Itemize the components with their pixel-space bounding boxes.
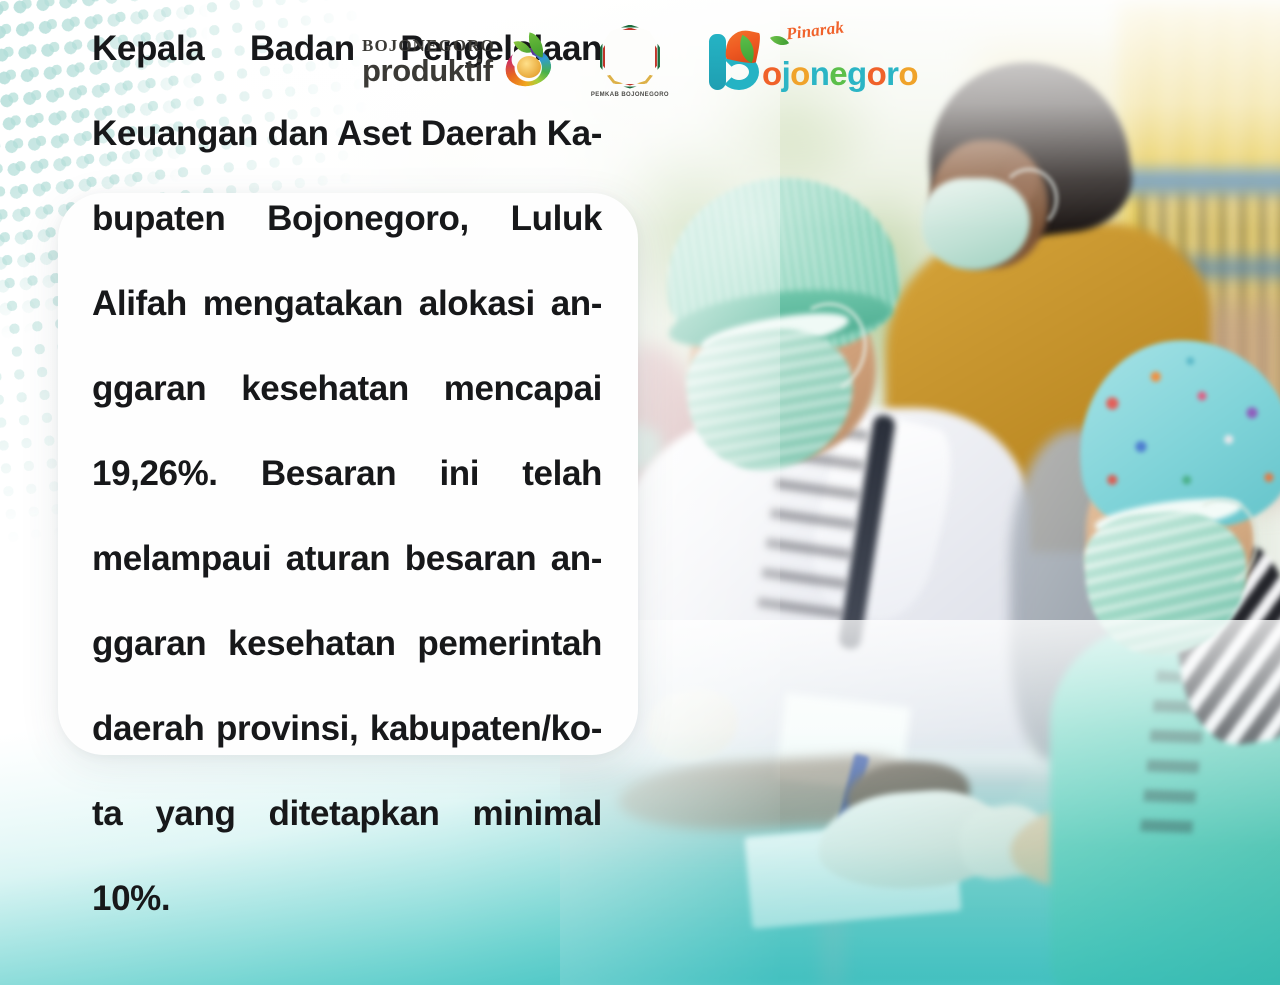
logo-pemkab-caption: PEMKAB BOJONEGORO	[591, 92, 669, 98]
quote-card: Kepala Badan Pengelolaan Keuangan dan As…	[58, 193, 638, 755]
wordmark-letter-j: j	[782, 55, 791, 92]
quote-paragraph: Kepala Badan Pengelolaan Keuangan dan As…	[92, 28, 602, 921]
wordmark-letter-r: r	[886, 55, 898, 92]
logo-bojonegoro-produktif: BOJONEGORO produktif	[362, 34, 555, 88]
quote-line-last: 10%.	[92, 878, 602, 921]
wordmark-letter-g: g	[847, 55, 867, 92]
pinarak-b-flame-icon	[705, 32, 761, 90]
quote-line: ta yang ditetapkan minimal	[92, 793, 602, 878]
logo-produktif-line1: BOJONEGORO	[362, 37, 495, 54]
wordmark-letter-n: n	[810, 55, 830, 92]
produktif-swoosh-icon	[503, 34, 555, 88]
wordmark-letter-o: o	[762, 55, 782, 92]
logo-pinarak-bojonegoro: Pinarak ojonegoro	[705, 32, 918, 90]
wordmark-letter-e: e	[829, 55, 847, 92]
quote-line: ggaran kesehatan mencapai	[92, 368, 602, 453]
logo-produktif-wordmark: BOJONEGORO produktif	[362, 37, 495, 86]
man-mask-strap	[1000, 168, 1058, 230]
logo-produktif-line2: produktif	[362, 55, 495, 86]
wordmark-letter-o2: o	[790, 55, 810, 92]
quote-line: Keuangan dan Aset Daerah Ka-	[92, 113, 602, 198]
logo-pemkab-bojonegoro: PEMKAB BOJONEGORO	[591, 25, 669, 98]
logo-bar: BOJONEGORO produktif PEMKAB BOJONEGO	[0, 18, 1280, 104]
quote-line: Alifah mengatakan alokasi an-	[92, 283, 602, 368]
quote-line: daerah provinsi, kabupaten/ko-	[92, 708, 602, 793]
wordmark-letter-o4: o	[898, 55, 918, 92]
poster-canvas: BOJONEGORO produktif PEMKAB BOJONEGO	[0, 0, 1280, 985]
quote-line: ggaran kesehatan pemerintah	[92, 623, 602, 708]
quote-line: melampaui aturan besaran an-	[92, 538, 602, 623]
pinarak-wordmark: Pinarak ojonegoro	[762, 39, 918, 90]
government-seal-icon	[600, 25, 660, 89]
quote-line: 19,26%. Besaran ini telah	[92, 453, 602, 538]
wordmark-letter-o3: o	[867, 55, 887, 92]
grain-core-icon	[517, 56, 541, 78]
pinarak-bojonegoro-wordmark: ojonegoro	[762, 57, 918, 90]
pinarak-tagline: Pinarak	[785, 18, 845, 45]
quote-line: bupaten Bojonegoro, Luluk	[92, 198, 602, 283]
